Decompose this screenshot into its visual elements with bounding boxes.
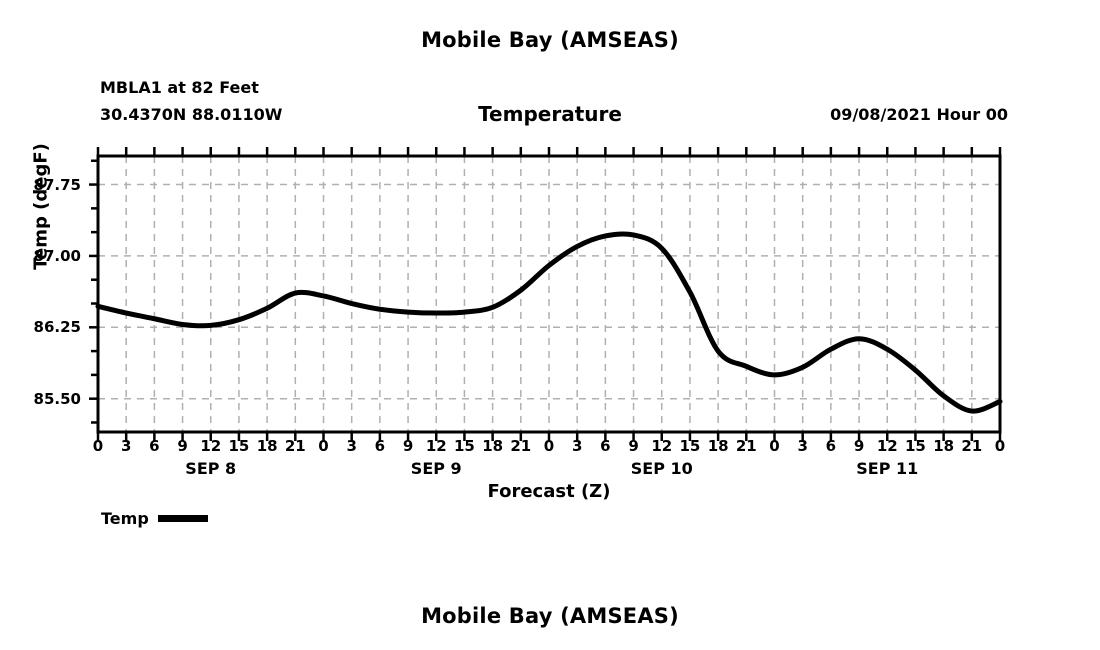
y-tick-label: 87.75: [1, 176, 81, 194]
x-tick-label: 15: [900, 437, 930, 455]
axis-ticks: [89, 147, 1000, 441]
x-tick-label: 21: [957, 437, 987, 455]
x-tick-label: 6: [590, 437, 620, 455]
x-tick-label: 0: [760, 437, 790, 455]
x-tick-label: 6: [365, 437, 395, 455]
x-tick-label: 12: [872, 437, 902, 455]
x-tick-label: 18: [478, 437, 508, 455]
x-tick-label: 6: [816, 437, 846, 455]
y-tick-label: 86.25: [1, 318, 81, 336]
legend-line-swatch: [158, 515, 208, 522]
x-tick-label: 12: [196, 437, 226, 455]
day-label: SEP 9: [376, 459, 496, 478]
legend: Temp: [101, 509, 208, 528]
x-tick-label: 0: [83, 437, 113, 455]
x-tick-label: 18: [252, 437, 282, 455]
x-tick-label: 9: [168, 437, 198, 455]
day-label: SEP 10: [602, 459, 722, 478]
x-tick-label: 0: [534, 437, 564, 455]
day-label: SEP 8: [151, 459, 271, 478]
x-tick-label: 21: [506, 437, 536, 455]
x-tick-label: 12: [647, 437, 677, 455]
x-tick-label: 6: [139, 437, 169, 455]
x-tick-label: 15: [224, 437, 254, 455]
y-tick-label: 87.00: [1, 247, 81, 265]
chart-plot: [0, 0, 1100, 650]
x-tick-label: 15: [675, 437, 705, 455]
x-tick-label: 18: [929, 437, 959, 455]
x-tick-label: 15: [449, 437, 479, 455]
x-tick-label: 9: [619, 437, 649, 455]
page-title-bottom: Mobile Bay (AMSEAS): [0, 604, 1100, 628]
x-tick-label: 21: [731, 437, 761, 455]
x-tick-label: 0: [985, 437, 1015, 455]
x-tick-label: 18: [703, 437, 733, 455]
x-tick-label: 3: [111, 437, 141, 455]
x-tick-label: 0: [309, 437, 339, 455]
legend-label: Temp: [101, 509, 149, 528]
x-tick-label: 12: [421, 437, 451, 455]
y-tick-label: 85.50: [1, 390, 81, 408]
forecast-chart-page: Mobile Bay (AMSEAS) MBLA1 at 82 Feet 30.…: [0, 0, 1100, 650]
x-tick-label: 3: [337, 437, 367, 455]
day-label: SEP 11: [827, 459, 947, 478]
gridlines: [98, 156, 1000, 432]
x-tick-label: 9: [844, 437, 874, 455]
x-tick-label: 21: [280, 437, 310, 455]
x-tick-label: 9: [393, 437, 423, 455]
x-tick-label: 3: [562, 437, 592, 455]
x-tick-label: 3: [788, 437, 818, 455]
